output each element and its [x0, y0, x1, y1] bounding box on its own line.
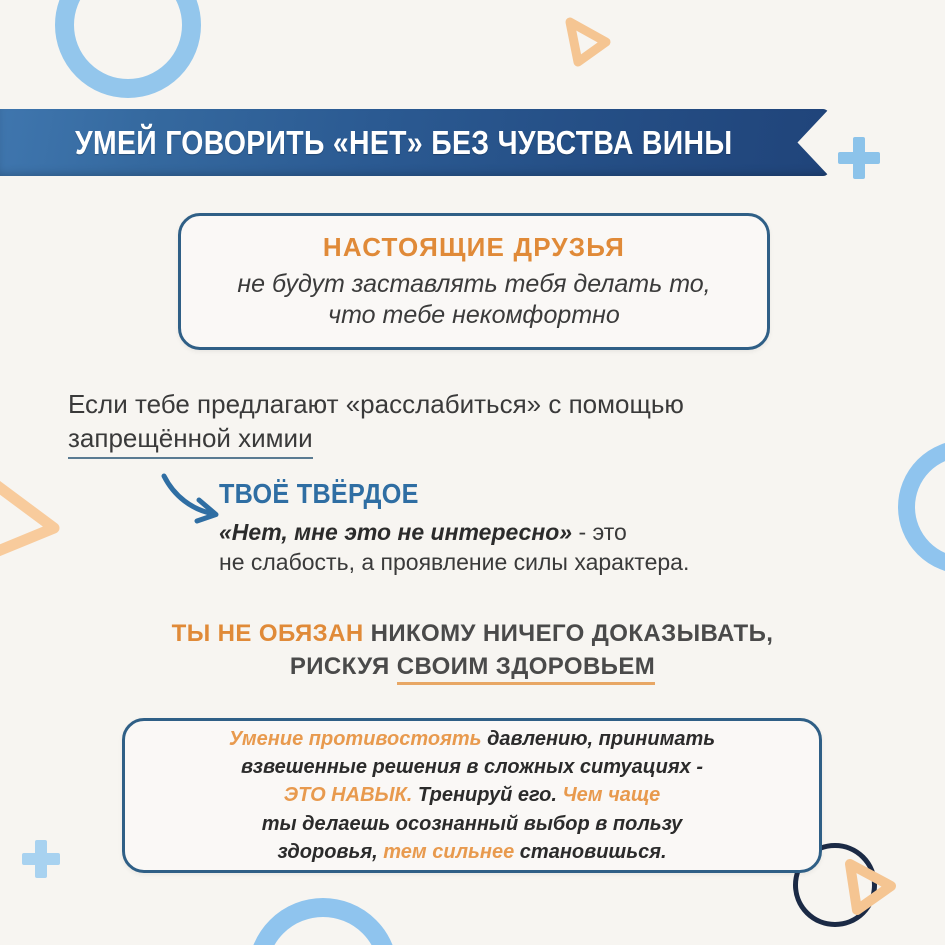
plus-bottom-left-icon	[22, 840, 60, 878]
skill-card-line-5-highlight: тем сильнее	[383, 841, 514, 863]
real-friends-body-line-2: что тебе некомфортно	[328, 301, 620, 329]
skill-card: Умение противостоять давлению, принимать…	[122, 718, 822, 873]
firm-answer-after-quote: - это	[572, 519, 627, 545]
header-banner: УМЕЙ ГОВОРИТЬ «НЕТ» БЕЗ ЧУВСТВА ВИНЫ	[0, 109, 829, 176]
real-friends-body: не будут заставлять тебя делать то, что …	[237, 269, 710, 332]
firm-answer-line-1: «Нет, мне это не интересно» - это	[219, 519, 919, 546]
no-obligation-rest: НИКОМУ НИЧЕГО ДОКАЗЫВАТЬ,	[364, 620, 774, 647]
firm-answer-line-2: не слабость, а проявление силы характера…	[219, 546, 919, 579]
skill-card-line-3-middle: Тренируй его.	[412, 784, 562, 806]
skill-card-line-2: взвешенные решения в сложных ситуациях -	[241, 753, 703, 781]
firm-answer-quote: «Нет, мне это не интересно»	[219, 519, 572, 545]
skill-card-line-1-rest: давлению, принимать	[482, 728, 716, 750]
no-obligation-line-2-underlined: СВОИМ ЗДОРОВЬЕМ	[397, 653, 655, 685]
page-title: УМЕЙ ГОВОРИТЬ «НЕТ» БЕЗ ЧУВСТВА ВИНЫ	[75, 124, 732, 162]
skill-card-line-5-prefix: здоровья,	[277, 841, 383, 863]
offer-line-2-underlined: запрещённой химии	[68, 421, 313, 458]
offer-line-1: Если тебе предлагают «расслабиться» с по…	[68, 387, 878, 421]
plus-right-icon	[838, 137, 880, 179]
skill-card-line-5-suffix: становишься.	[514, 841, 666, 863]
curved-arrow-icon	[158, 470, 228, 528]
skill-card-line-3-highlight-2: Чем чаще	[563, 784, 661, 806]
real-friends-card: НАСТОЯЩИЕ ДРУЗЬЯ не будут заставлять теб…	[178, 213, 770, 350]
poster-root: УМЕЙ ГОВОРИТЬ «НЕТ» БЕЗ ЧУВСТВА ВИНЫ НАС…	[0, 0, 945, 945]
real-friends-body-line-1: не будут заставлять тебя делать то,	[237, 270, 710, 298]
skill-card-line-3: ЭТО НАВЫК. Тренируй его. Чем чаще	[284, 781, 661, 809]
skill-card-line-4: ты делаешь осознанный выбор в пользу	[262, 810, 683, 838]
header-banner-background: УМЕЙ ГОВОРИТЬ «НЕТ» БЕЗ ЧУВСТВА ВИНЫ	[0, 109, 829, 176]
skill-card-line-5: здоровья, тем сильнее становишься.	[277, 838, 666, 866]
real-friends-headline: НАСТОЯЩИЕ ДРУЗЬЯ	[323, 232, 625, 263]
no-obligation-line-2: РИСКУЯ СВОИМ ЗДОРОВЬЕМ	[0, 650, 945, 683]
no-obligation-line-1: ТЫ НЕ ОБЯЗАН НИКОМУ НИЧЕГО ДОКАЗЫВАТЬ,	[0, 617, 945, 650]
firm-answer-body: «Нет, мне это не интересно» - это не сла…	[219, 519, 919, 579]
offer-paragraph: Если тебе предлагают «расслабиться» с по…	[68, 387, 878, 459]
no-obligation-line-2-prefix: РИСКУЯ	[290, 653, 397, 680]
skill-card-line-1-highlight: Умение противостоять	[229, 728, 482, 750]
firm-answer-title: ТВОЁ ТВЁРДОЕ	[219, 478, 419, 510]
ring-bottom-icon	[248, 898, 398, 945]
ring-top-left-icon	[55, 0, 201, 98]
no-obligation-paragraph: ТЫ НЕ ОБЯЗАН НИКОМУ НИЧЕГО ДОКАЗЫВАТЬ, Р…	[0, 617, 945, 683]
no-obligation-emphasis: ТЫ НЕ ОБЯЗАН	[172, 620, 364, 647]
skill-card-line-1: Умение противостоять давлению, принимать	[229, 725, 715, 753]
skill-card-line-3-highlight-1: ЭТО НАВЫК.	[284, 784, 413, 806]
